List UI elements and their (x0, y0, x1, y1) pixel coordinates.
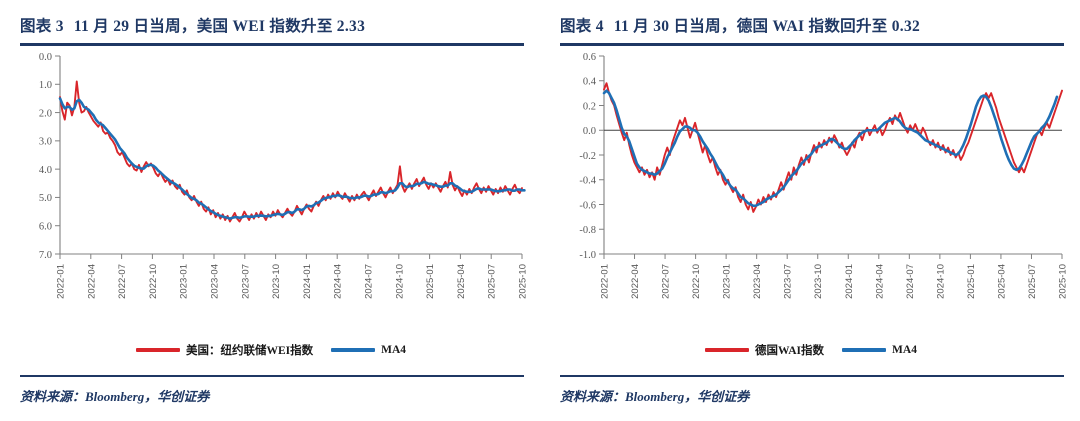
svg-text:2023-10: 2023-10 (813, 264, 824, 299)
legend-swatch-ma4 (331, 348, 375, 351)
svg-text:2022-01: 2022-01 (56, 264, 67, 299)
figure-panel-4: 图表 411 月 30 日当周，德国 WAI 指数回升至 0.32 0.60.4… (540, 0, 1080, 421)
svg-text:0.6: 0.6 (583, 52, 596, 63)
svg-text:2024-04: 2024-04 (333, 264, 344, 299)
figure-3-title: 图表 311 月 29 日当周，美国 WEI 指数升至 2.33 (14, 0, 528, 36)
svg-text:4.0: 4.0 (39, 165, 52, 176)
svg-text:1.0: 1.0 (39, 80, 52, 91)
chart-4-svg: 0.60.40.20.0-0.2-0.4-0.6-0.8-1.02022-012… (554, 46, 1068, 346)
svg-text:2022-01: 2022-01 (600, 264, 611, 299)
legend-swatch-wei (136, 348, 180, 351)
svg-text:2025-07: 2025-07 (487, 264, 498, 299)
figure-4-number: 图表 4 (560, 18, 614, 35)
figures-sheet: 图表 311 月 29 日当周，美国 WEI 指数升至 2.33 0.01.02… (0, 0, 1080, 421)
svg-text:2024-07: 2024-07 (905, 264, 916, 299)
svg-text:0.2: 0.2 (583, 101, 596, 112)
svg-text:0.4: 0.4 (583, 77, 597, 88)
figure-4-plot: 0.60.40.20.0-0.2-0.4-0.6-0.8-1.02022-012… (554, 46, 1068, 346)
figure-4-title-text: 11 月 30 日当周，德国 WAI 指数回升至 0.32 (614, 18, 920, 35)
svg-text:0.0: 0.0 (583, 126, 596, 137)
figure-4-title: 图表 411 月 30 日当周，德国 WAI 指数回升至 0.32 (554, 0, 1068, 36)
svg-text:2024-01: 2024-01 (844, 264, 855, 299)
svg-text:2022-10: 2022-10 (148, 264, 159, 299)
chart-3-svg: 0.01.02.03.04.05.06.07.02022-012022-0420… (14, 46, 528, 346)
svg-text:2.0: 2.0 (39, 108, 52, 119)
svg-text:-1.0: -1.0 (579, 250, 596, 261)
svg-text:2024-04: 2024-04 (874, 264, 885, 299)
svg-text:-0.8: -0.8 (579, 225, 596, 236)
svg-text:2023-07: 2023-07 (240, 264, 251, 299)
svg-text:2023-01: 2023-01 (722, 264, 733, 299)
svg-text:2022-10: 2022-10 (691, 264, 702, 299)
figure-4-source: 资料来源：Bloomberg，华创证券 (554, 377, 1068, 405)
svg-text:3.0: 3.0 (39, 137, 52, 148)
svg-text:2025-10: 2025-10 (518, 264, 529, 299)
svg-text:2023-01: 2023-01 (179, 264, 190, 299)
svg-text:2025-04: 2025-04 (456, 264, 467, 299)
svg-text:-0.6: -0.6 (579, 200, 596, 211)
svg-text:2023-04: 2023-04 (210, 264, 221, 299)
svg-text:2022-04: 2022-04 (630, 264, 641, 299)
svg-text:2024-07: 2024-07 (364, 264, 375, 299)
svg-text:0.0: 0.0 (39, 52, 52, 63)
svg-text:2022-04: 2022-04 (86, 264, 97, 299)
svg-text:2023-07: 2023-07 (783, 264, 794, 299)
svg-text:6.0: 6.0 (39, 222, 52, 233)
svg-text:2024-01: 2024-01 (302, 264, 313, 299)
svg-text:2023-10: 2023-10 (271, 264, 282, 299)
svg-text:2023-04: 2023-04 (752, 264, 763, 299)
svg-text:-0.2: -0.2 (579, 151, 596, 162)
figure-3-footer: 资料来源：Bloomberg，华创证券 (14, 375, 528, 406)
figure-3-number: 图表 3 (20, 18, 74, 35)
figure-3-title-text: 11 月 29 日当周，美国 WEI 指数升至 2.33 (74, 18, 365, 35)
svg-text:-0.4: -0.4 (579, 176, 596, 187)
legend-swatch-wai (705, 348, 749, 351)
figure-panel-3: 图表 311 月 29 日当周，美国 WEI 指数升至 2.33 0.01.02… (0, 0, 540, 421)
svg-text:7.0: 7.0 (39, 250, 52, 261)
legend-swatch-ma4-de (842, 348, 886, 351)
svg-text:2024-10: 2024-10 (394, 264, 405, 299)
svg-text:2025-04: 2025-04 (996, 264, 1007, 299)
svg-text:2022-07: 2022-07 (117, 264, 128, 299)
svg-text:5.0: 5.0 (39, 193, 52, 204)
figure-3-source: 资料来源：Bloomberg，华创证券 (14, 377, 528, 405)
svg-text:2024-10: 2024-10 (935, 264, 946, 299)
figure-4-footer: 资料来源：Bloomberg，华创证券 (554, 375, 1068, 406)
svg-text:2025-01: 2025-01 (966, 264, 977, 299)
svg-text:2025-10: 2025-10 (1058, 264, 1069, 299)
svg-text:2025-01: 2025-01 (425, 264, 436, 299)
svg-text:2022-07: 2022-07 (661, 264, 672, 299)
svg-text:2025-07: 2025-07 (1027, 264, 1038, 299)
figure-3-plot: 0.01.02.03.04.05.06.07.02022-012022-0420… (14, 46, 528, 346)
